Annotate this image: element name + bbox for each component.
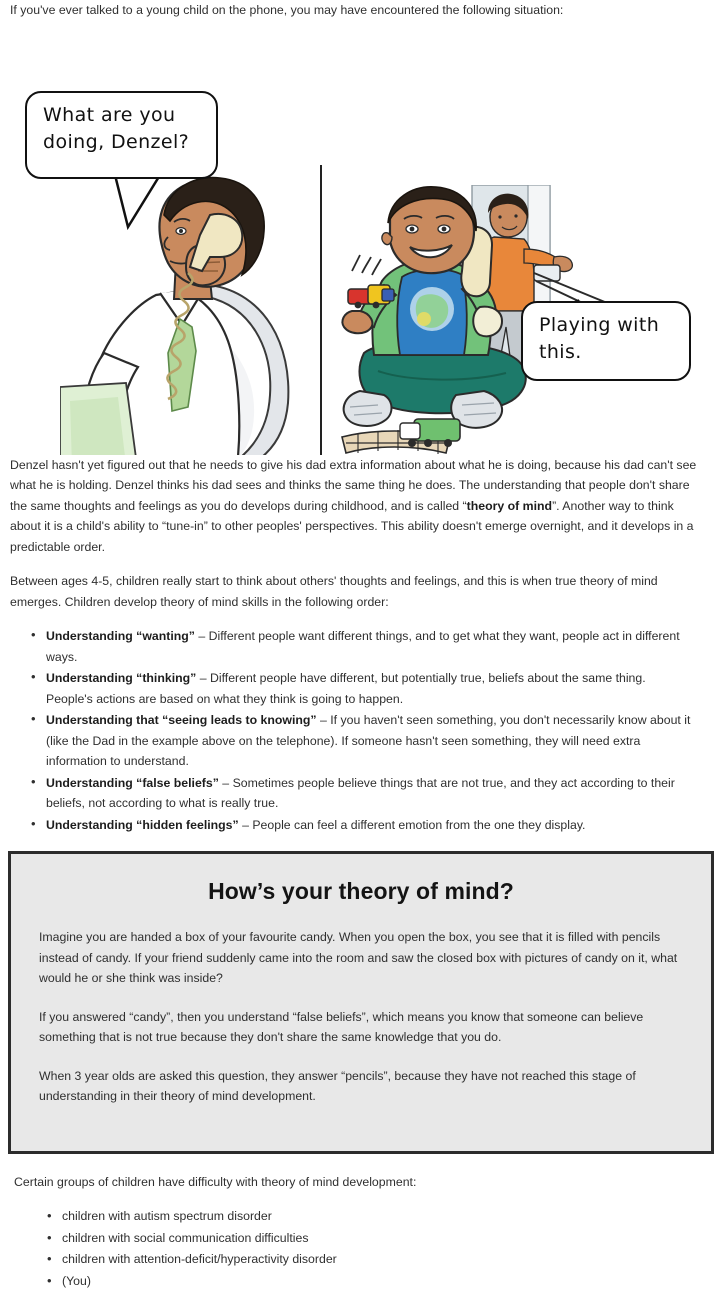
comic-illustration: What are you doing, Denzel? Playing with… [0, 35, 720, 455]
list-item: children with autism spectrum disorder [62, 1206, 720, 1228]
dad-speech-text: What are you doing, Denzel? [43, 104, 189, 153]
intro-paragraph: If you've ever talked to a young child o… [0, 0, 720, 21]
paragraph-theory-of-mind: Denzel hasn't yet figured out that he ne… [0, 455, 720, 558]
list-item: Understanding that “seeing leads to know… [46, 710, 720, 772]
list-item: Understanding “hidden feelings” – People… [46, 815, 720, 836]
stage-term: Understanding “thinking” [46, 671, 196, 685]
article-page: If you've ever talked to a young child o… [0, 0, 720, 1304]
stage-description: – People can feel a different emotion fr… [239, 818, 586, 832]
kid-speech-bubble: Playing with this. [521, 301, 691, 381]
list-item: Understanding “wanting” – Different peop… [46, 626, 720, 667]
paragraph-groups-intro: Certain groups of children have difficul… [0, 1172, 720, 1193]
list-item: (You) [62, 1271, 720, 1293]
dad-scene [60, 175, 330, 455]
dad-speech-bubble: What are you doing, Denzel? [25, 91, 218, 179]
kid-speech-text: Playing with this. [539, 314, 659, 363]
callout-paragraph-2: If you answered “candy”, then you unders… [33, 1007, 689, 1048]
difficulty-groups-list: children with autism spectrum disorder c… [0, 1206, 720, 1292]
callout-paragraph-3: When 3 year olds are asked this question… [33, 1066, 689, 1107]
stage-term: Understanding “false beliefs” [46, 776, 219, 790]
callout-paragraph-1: Imagine you are handed a box of your fav… [33, 927, 689, 989]
stage-term: Understanding “wanting” [46, 629, 195, 643]
list-item: Understanding “thinking” – Different peo… [46, 668, 720, 709]
list-item: children with social communication diffi… [62, 1228, 720, 1250]
stage-term: Understanding “hidden feelings” [46, 818, 239, 832]
theory-of-mind-stages-list: Understanding “wanting” – Different peop… [0, 626, 720, 835]
page-bottom-spacer [0, 1292, 720, 1304]
paragraph-ages: Between ages 4-5, children really start … [0, 571, 720, 612]
list-item: children with attention-deficit/hyperact… [62, 1249, 720, 1271]
stage-term: Understanding that “seeing leads to know… [46, 713, 317, 727]
callout-heading: How’s your theory of mind? [33, 878, 689, 905]
list-item: Understanding “false beliefs” – Sometime… [46, 773, 720, 814]
theory-of-mind-quiz-callout: How’s your theory of mind? Imagine you a… [8, 851, 714, 1154]
theory-of-mind-term: theory of mind [467, 499, 552, 513]
